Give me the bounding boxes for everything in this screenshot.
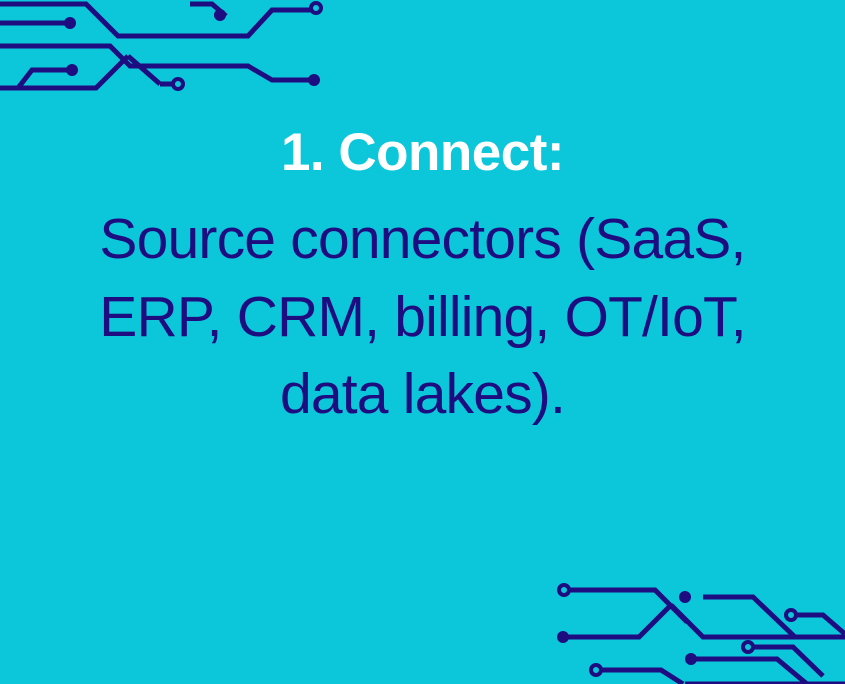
circuit-trace-bottom-right-icon <box>535 572 845 684</box>
slide-canvas: 1. Connect: Source connectors (SaaS, ERP… <box>0 0 845 684</box>
body-copy-line: ERP, CRM, billing, OT/IoT, <box>99 279 746 357</box>
slide-content: 1. Connect: Source connectors (SaaS, ERP… <box>0 126 845 434</box>
body-copy-line: data lakes). <box>99 356 746 434</box>
body-copy-line: Source connectors (SaaS, <box>99 201 746 279</box>
circuit-trace-top-left-icon <box>0 0 330 96</box>
page-title: 1. Connect: <box>251 126 594 179</box>
body-copy: Source connectors (SaaS, ERP, CRM, billi… <box>59 179 786 434</box>
